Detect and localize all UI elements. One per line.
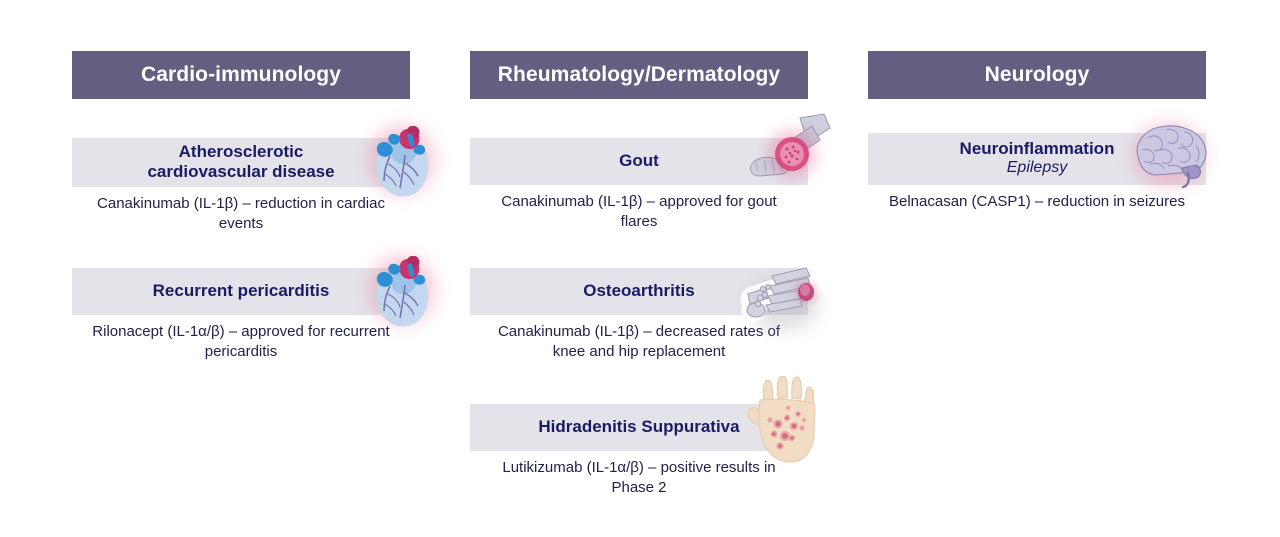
card-title: Osteoarthritis [541, 281, 736, 301]
card-gout[interactable]: Gout Canakinumab (IL-1β) – approved for … [470, 138, 808, 232]
card-title: Hidradenitis Suppurativa [496, 417, 781, 437]
card-band: Recurrent pericarditis [72, 268, 410, 315]
card-title: Atherosclerotic cardiovascular disease [105, 142, 376, 182]
card-subtitle: Epilepsy [1007, 159, 1067, 178]
card-title: Neuroinflammation [918, 139, 1157, 159]
card-description: Canakinumab (IL-1β) – reduction in cardi… [72, 187, 410, 234]
card-description: Rilonacept (IL-1α/β) – approved for recu… [72, 315, 410, 362]
card-hidradenitis-suppurativa[interactable]: Hidradenitis Suppurativa Lutikizumab (IL… [470, 404, 808, 498]
card-description: Canakinumab (IL-1β) – approved for gout … [470, 185, 808, 232]
card-description: Lutikizumab (IL-1α/β) – positive results… [470, 451, 808, 498]
column-header-cardio-immunology: Cardio-immunology [72, 51, 410, 99]
card-description: Canakinumab (IL-1β) – decreased rates of… [470, 315, 808, 362]
column-header-neurology: Neurology [868, 51, 1206, 99]
card-band: Hidradenitis Suppurativa [470, 404, 808, 451]
card-atherosclerotic-cardiovascular-disease[interactable]: Atherosclerotic cardiovascular disease C… [72, 138, 410, 234]
card-recurrent-pericarditis[interactable]: Recurrent pericarditis Rilonacept (IL-1α… [72, 268, 410, 362]
card-title: Gout [577, 151, 701, 171]
card-osteoarthritis[interactable]: Osteoarthritis Canakinumab (IL-1β) – dec… [470, 268, 808, 362]
column-header-rheumatology-dermatology: Rheumatology/Dermatology [470, 51, 808, 99]
card-neuroinflammation[interactable]: Neuroinflammation Epilepsy Belnacasan (C… [868, 133, 1206, 212]
diagram-board: Cardio-immunology Atherosclerotic cardio… [0, 0, 1280, 537]
card-band: Atherosclerotic cardiovascular disease [72, 138, 410, 187]
card-title: Recurrent pericarditis [111, 281, 372, 301]
card-band: Gout [470, 138, 808, 185]
card-title-line2: cardiovascular disease [147, 162, 334, 181]
card-title-line1: Atherosclerotic [179, 142, 304, 161]
card-description: Belnacasan (CASP1) – reduction in seizur… [868, 185, 1206, 212]
card-band: Osteoarthritis [470, 268, 808, 315]
card-band: Neuroinflammation Epilepsy [868, 133, 1206, 185]
